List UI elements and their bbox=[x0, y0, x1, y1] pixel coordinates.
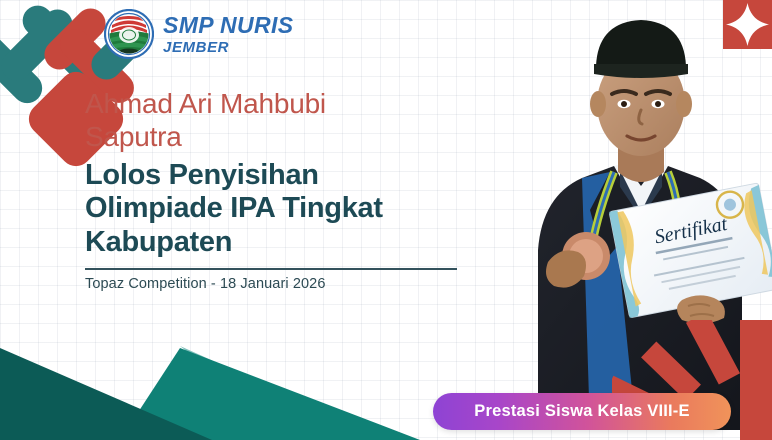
achievement-poster: Sertifikat bbox=[0, 0, 772, 440]
school-logo[interactable]: SMP NURIS JEMBER bbox=[104, 9, 294, 59]
school-crest-icon bbox=[104, 9, 154, 59]
school-name-line2: JEMBER bbox=[163, 40, 294, 55]
decoration-layer-front bbox=[0, 0, 772, 440]
school-name-line1: SMP NURIS bbox=[163, 14, 294, 37]
class-banner-label: Prestasi Siswa Kelas VIII-E bbox=[474, 402, 689, 421]
school-name: SMP NURIS JEMBER bbox=[163, 14, 294, 55]
class-banner[interactable]: Prestasi Siswa Kelas VIII-E bbox=[433, 393, 731, 430]
